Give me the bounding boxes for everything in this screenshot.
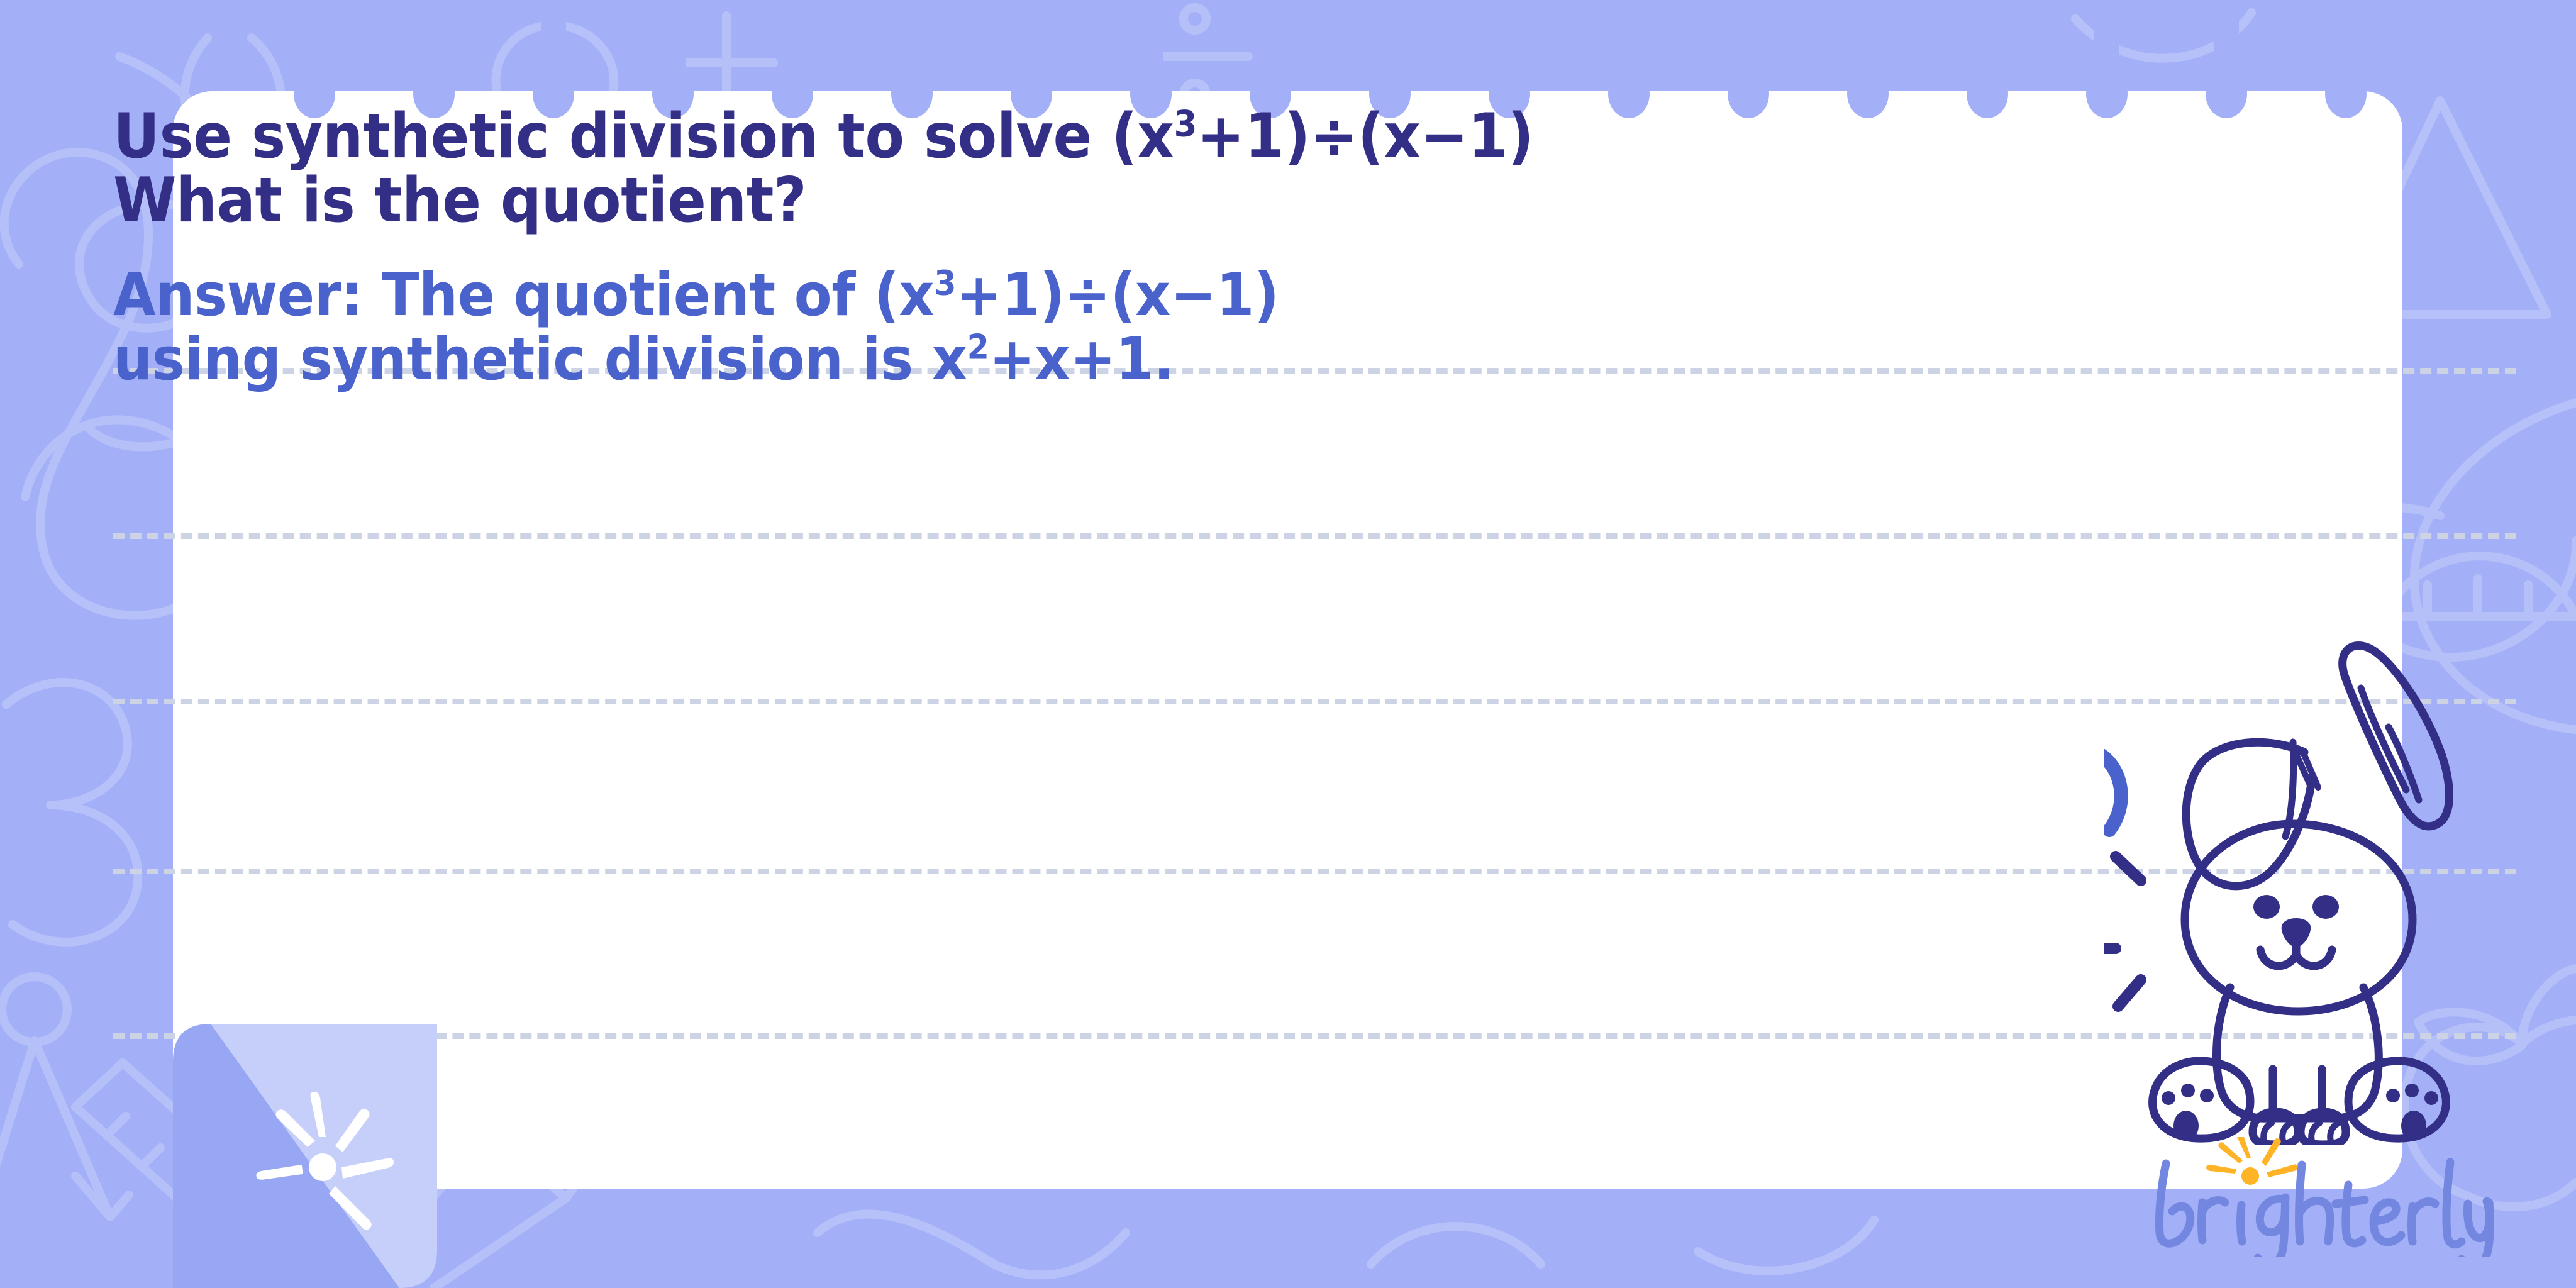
spiral-ring-head — [2206, 69, 2247, 118]
spiral-ring-head — [2325, 69, 2367, 118]
brighterly-logo[interactable] — [2150, 1137, 2502, 1257]
logo-sun-icon — [2206, 1137, 2297, 1185]
bunny-head — [2185, 824, 2412, 1011]
spiral-ring-head — [413, 69, 455, 118]
spiral-ring-head — [1967, 69, 2008, 118]
spiral-ring-head — [294, 69, 335, 118]
spiral-ring-head — [1489, 69, 1530, 118]
spiral-ring-head — [1847, 69, 1889, 118]
rule-line — [113, 533, 2516, 539]
bunny-sparkle-dashes — [2104, 857, 2141, 1006]
spiral-ring-head — [1011, 69, 1052, 118]
spiral-binding — [0, 0, 2576, 252]
spiral-ring-head — [1130, 69, 1172, 118]
spiral-ring-head — [1728, 69, 1769, 118]
notebook-card — [173, 91, 2402, 1189]
bunny-crescent-accent — [2104, 755, 2121, 830]
spiral-ring-head — [891, 69, 933, 118]
bunny-eye-left — [2253, 895, 2280, 919]
spiral-ring-head — [1608, 69, 1650, 118]
corner-page-fold — [173, 1024, 437, 1288]
spiral-ring-head — [533, 69, 574, 118]
rule-line — [113, 368, 2516, 374]
spiral-ring-head — [2086, 69, 2128, 118]
bunny-eye-right — [2312, 895, 2339, 919]
spiral-ring-head — [1369, 69, 1411, 118]
bunny-body — [2216, 987, 2379, 1118]
bunny-mascot — [2104, 635, 2494, 1145]
logo-wordmark — [2159, 1162, 2490, 1257]
spiral-ring-head — [1250, 69, 1291, 118]
spiral-ring-head — [652, 69, 694, 118]
spiral-ring-head — [772, 69, 813, 118]
